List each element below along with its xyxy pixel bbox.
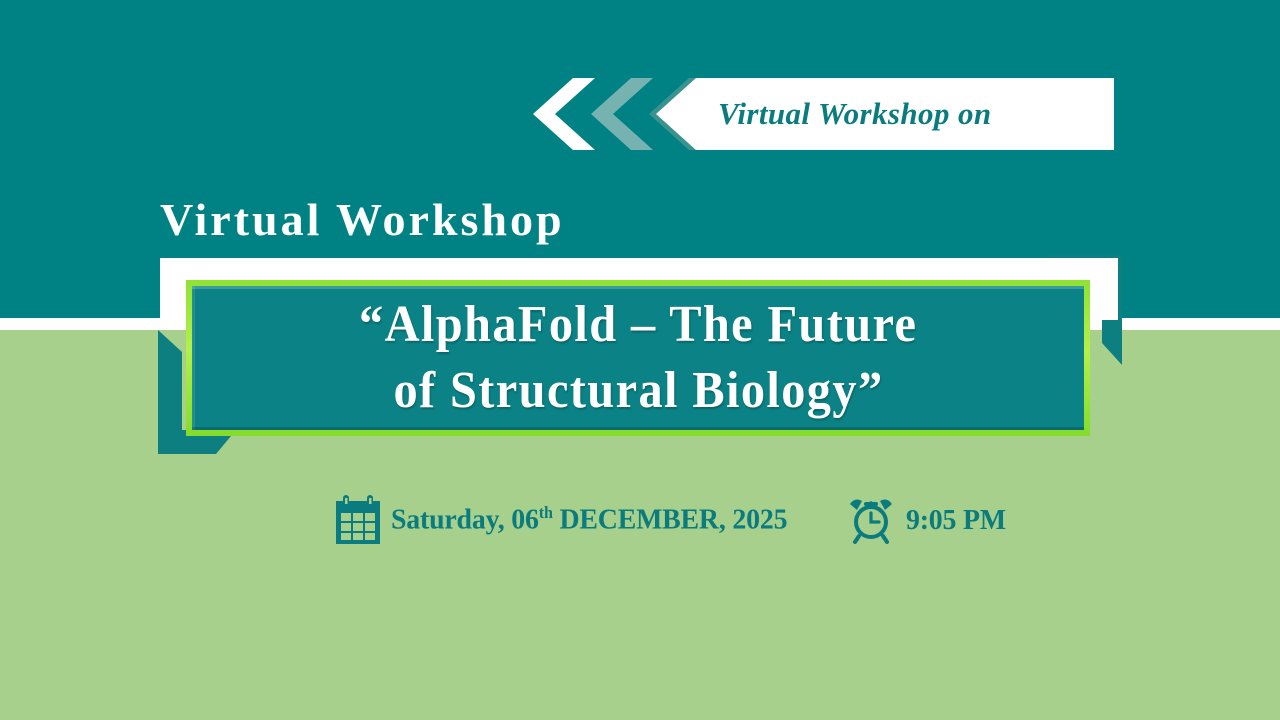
banner-label: Virtual Workshop on: [718, 78, 1114, 150]
alarm-clock-icon: [846, 495, 896, 545]
page-subheading: Virtual Workshop: [160, 193, 565, 246]
event-date-text: Saturday, 06th DECEMBER, 2025: [391, 503, 787, 537]
event-date-suffix: DECEMBER, 2025: [553, 504, 788, 536]
event-date: Saturday, 06th DECEMBER, 2025: [335, 495, 804, 545]
event-date-prefix: Saturday, 06: [391, 504, 539, 536]
page-title-line-1: “AlphaFold – The Future: [359, 292, 917, 358]
event-meta-row: Saturday, 06th DECEMBER, 2025 9:05 PM: [335, 495, 1010, 545]
title-box: “AlphaFold – The Future of Structural Bi…: [192, 286, 1084, 430]
title-frame: “AlphaFold – The Future of Structural Bi…: [186, 280, 1090, 436]
event-date-ordinal: th: [539, 503, 553, 522]
page-title-line-2: of Structural Biology”: [393, 358, 883, 424]
event-time: 9:05 PM: [846, 495, 1010, 545]
calendar-icon: [335, 495, 381, 545]
event-time-text: 9:05 PM: [906, 504, 1006, 537]
